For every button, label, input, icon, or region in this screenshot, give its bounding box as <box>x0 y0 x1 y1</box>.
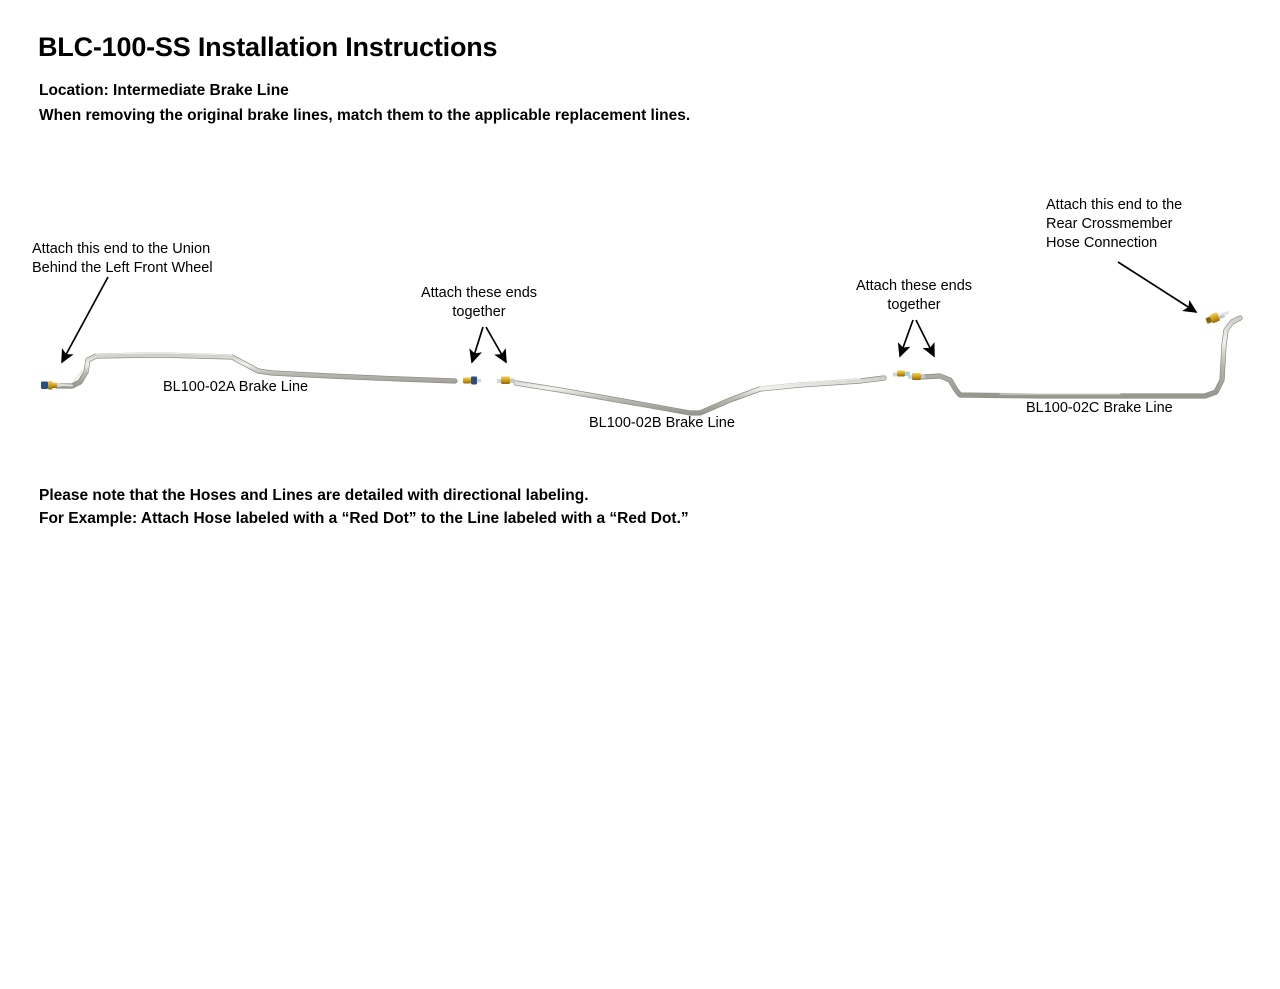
fitting-joint-ab-left <box>463 377 481 385</box>
arrow-left-union <box>62 277 108 362</box>
arrow-joint-bc-left <box>900 320 913 356</box>
fitting-joint-bc-left <box>893 371 910 377</box>
page-title: BLC-100-SS Installation Instructions <box>38 32 497 63</box>
part-label-line-a: BL100-02A Brake Line <box>163 379 308 395</box>
location-line: Location: Intermediate Brake Line <box>39 82 289 100</box>
brake-line-b-tube <box>516 378 884 413</box>
note-red-dot-example: For Example: Attach Hose labeled with a … <box>39 510 689 528</box>
arrow-joint-bc-right <box>916 320 934 356</box>
callout-arrows <box>62 262 1196 362</box>
callout-left-union: Attach this end to the Union Behind the … <box>32 240 213 278</box>
fitting-rear-crossmember <box>1205 308 1231 325</box>
arrow-rear-crossmember <box>1118 262 1196 312</box>
callout-rear-crossmember: Attach this end to the Rear Crossmember … <box>1046 196 1182 253</box>
part-label-line-c: BL100-02C Brake Line <box>1026 400 1173 416</box>
part-label-line-b: BL100-02B Brake Line <box>589 415 735 431</box>
instruction-line: When removing the original brake lines, … <box>39 107 690 125</box>
arrow-joint-ab-left <box>472 327 483 362</box>
instruction-sheet: BLC-100-SS Installation Instructions Loc… <box>0 0 1280 989</box>
fitting-left-union <box>41 371 82 390</box>
callout-joint-bc: Attach these ends together <box>850 277 978 315</box>
note-directional-labeling: Please note that the Hoses and Lines are… <box>39 487 589 505</box>
fitting-joint-ab-right <box>497 377 515 385</box>
brake-line-c-tube <box>922 318 1240 396</box>
callout-joint-ab: Attach these ends together <box>415 284 543 322</box>
fitting-joint-bc-right <box>908 373 925 380</box>
arrow-joint-ab-right <box>486 327 506 362</box>
